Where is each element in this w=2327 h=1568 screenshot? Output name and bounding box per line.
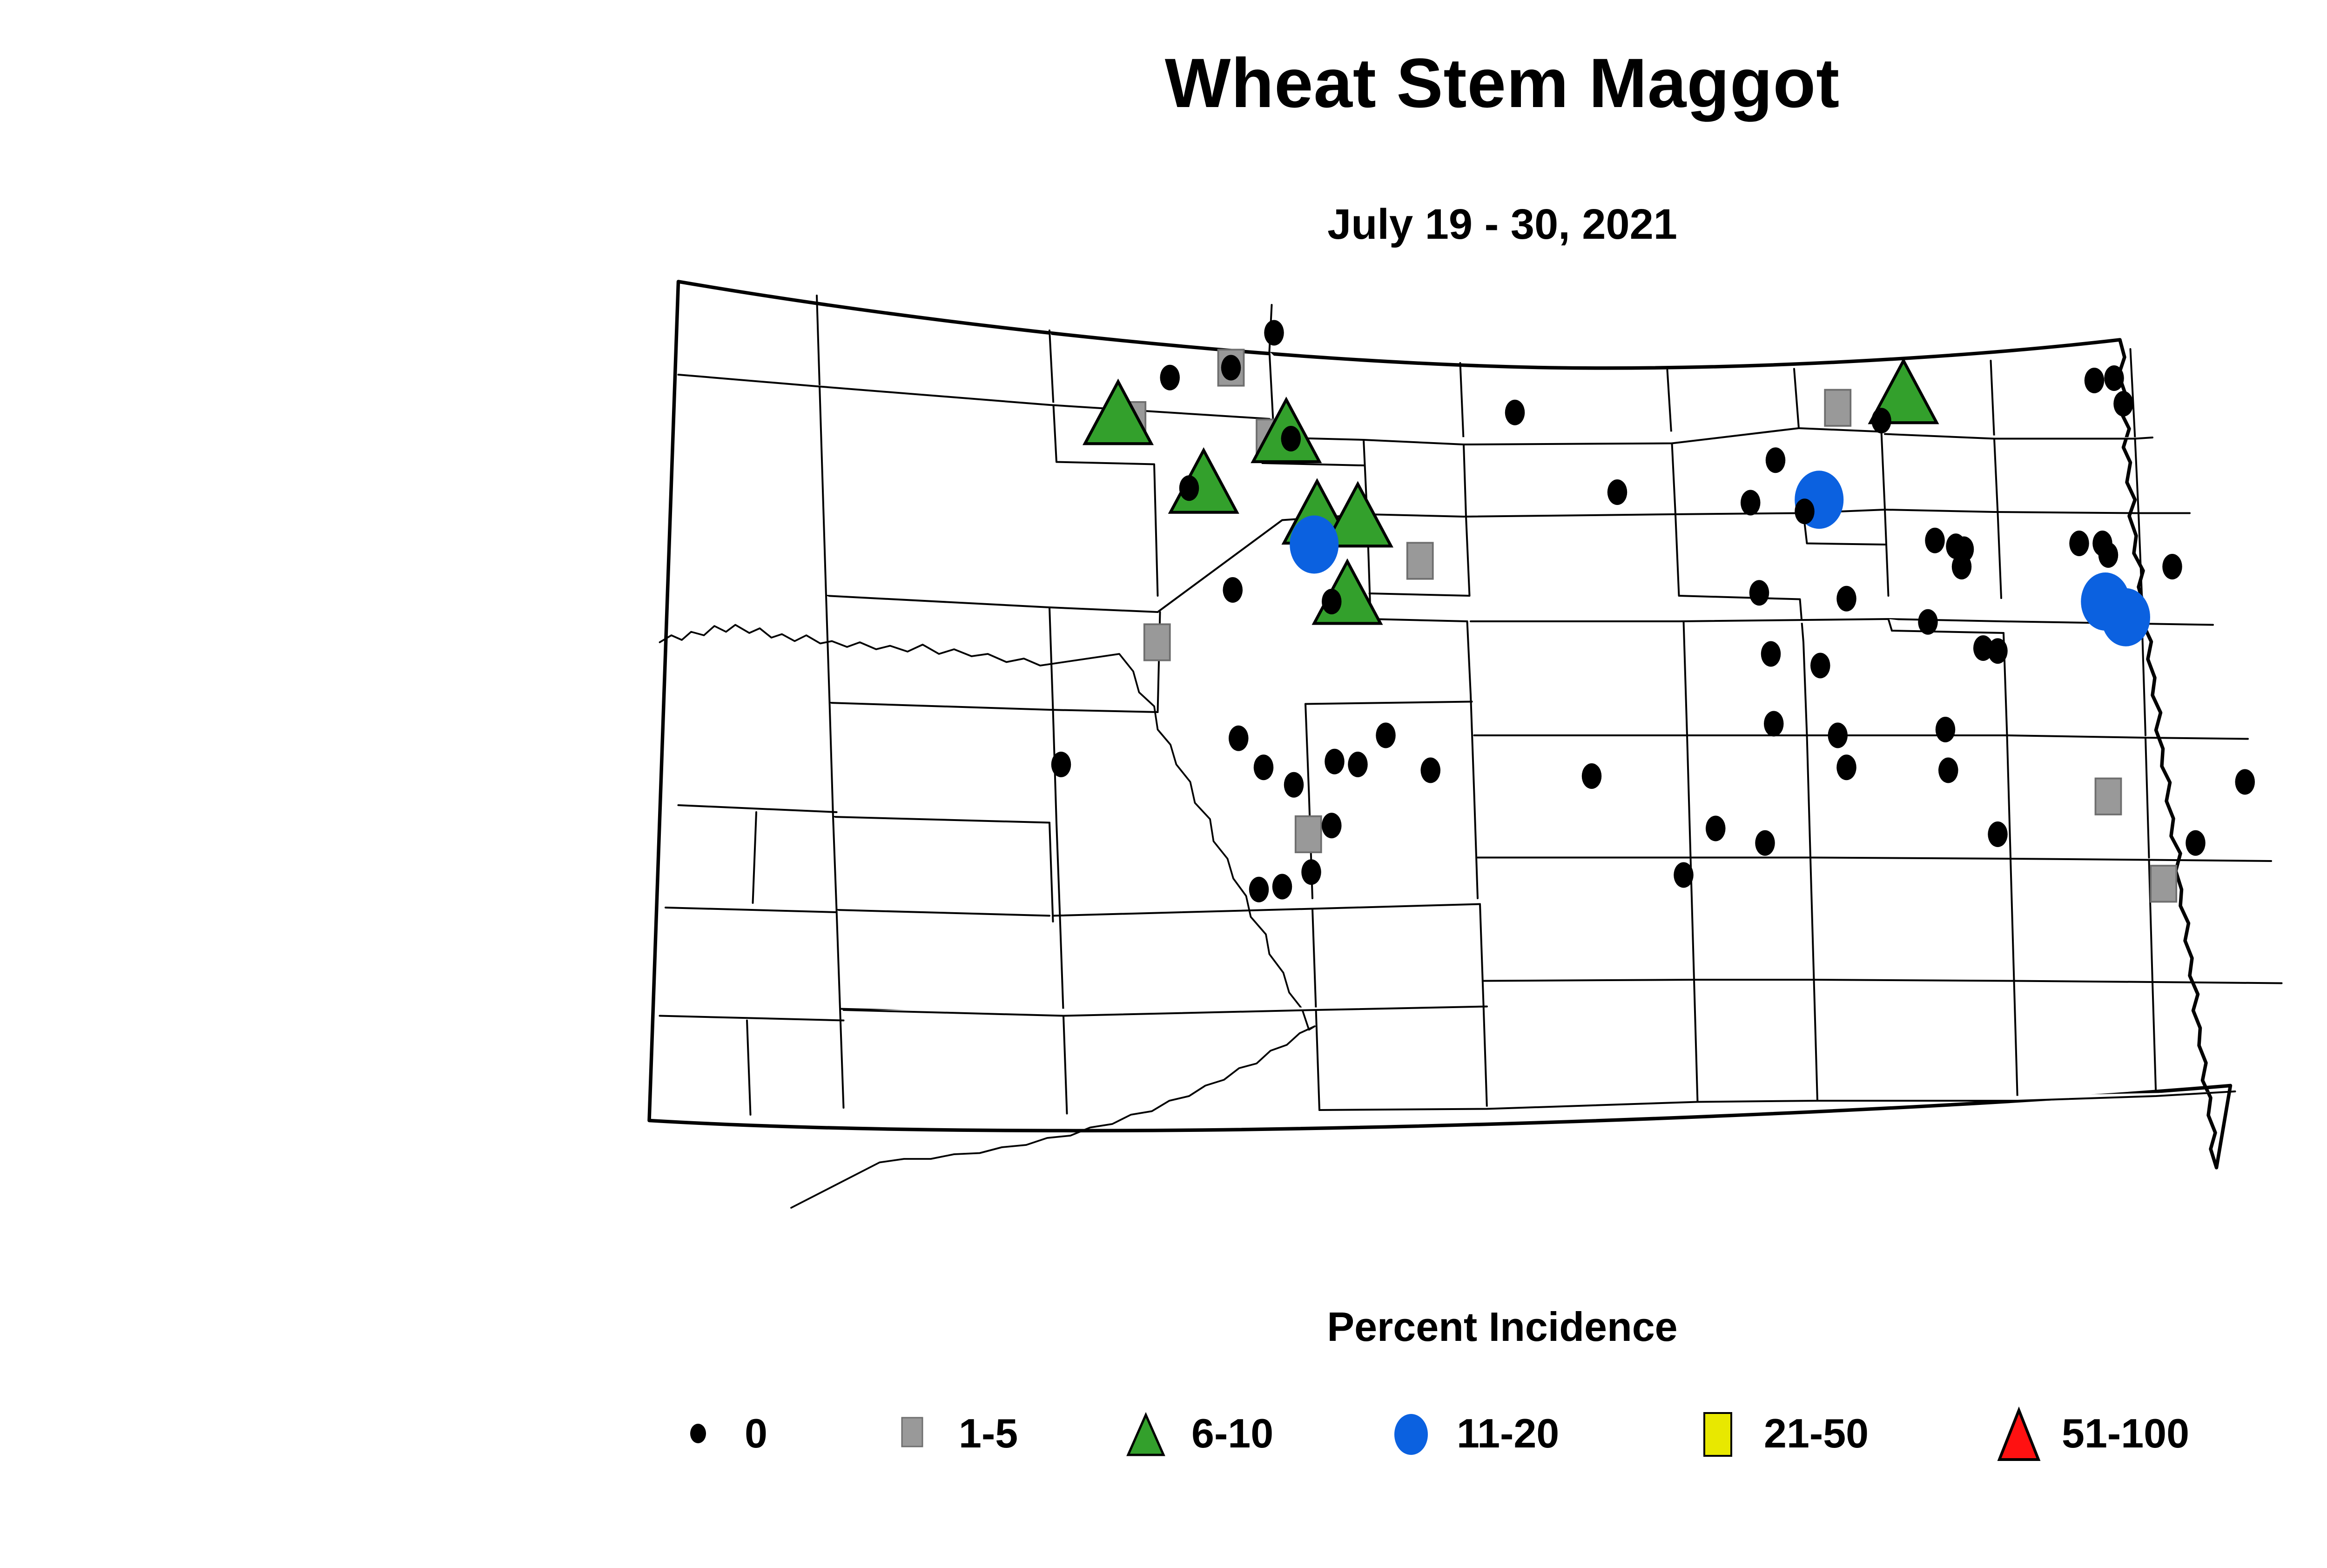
map-marker-0[interactable]	[1836, 586, 1856, 612]
page-title: Wheat Stem Maggot	[0, 47, 2327, 120]
north-dakota-county-map[interactable]	[642, 270, 2327, 1285]
map-container[interactable]	[642, 270, 2327, 1285]
legend-entry-4[interactable]: 21-50	[1689, 1392, 1869, 1475]
map-marker-0[interactable]	[1706, 816, 1726, 841]
map-marker-0[interactable]	[1828, 723, 1848, 748]
map-marker-0[interactable]	[1755, 830, 1775, 856]
map-marker-0[interactable]	[1322, 589, 1342, 614]
map-marker-0[interactable]	[2104, 365, 2124, 391]
map-marker-0[interactable]	[1795, 498, 1815, 524]
map-marker-0[interactable]	[1221, 355, 1241, 381]
map-marker-0[interactable]	[1264, 320, 1284, 346]
map-marker-0[interactable]	[2113, 391, 2133, 417]
legend-entry-0[interactable]: 0	[670, 1392, 767, 1475]
map-marker-0[interactable]	[1674, 862, 1694, 888]
map-marker-0[interactable]	[1836, 754, 1856, 780]
map-marker-0[interactable]	[2162, 554, 2182, 579]
map-marker-0[interactable]	[1918, 609, 1938, 635]
legend-entry-1[interactable]: 1-5	[884, 1392, 1018, 1475]
legend-label-2: 6-10	[1191, 1410, 1273, 1457]
map-marker-1-5[interactable]	[2096, 779, 2121, 815]
legend-label-5: 51-100	[2062, 1410, 2189, 1457]
map-marker-0[interactable]	[1051, 752, 1071, 777]
map-marker-0[interactable]	[1254, 754, 1274, 780]
legend-title: Percent Incidence	[0, 1303, 2327, 1351]
legend-label-0: 0	[745, 1410, 767, 1457]
map-marker-0[interactable]	[1348, 752, 1368, 777]
county-line	[2131, 349, 2135, 439]
map-marker-0[interactable]	[1223, 577, 1243, 603]
legend-entry-3[interactable]: 11-20	[1382, 1392, 1559, 1475]
map-marker-0[interactable]	[1749, 580, 1769, 606]
map-marker-0[interactable]	[1938, 758, 1958, 783]
map-marker-0[interactable]	[1766, 447, 1786, 473]
map-marker-0[interactable]	[1301, 859, 1321, 885]
legend: 0 1-5 6-10 11-20	[642, 1392, 2327, 1485]
legend-label-3: 11-20	[1457, 1410, 1559, 1457]
map-marker-0[interactable]	[1179, 475, 1199, 501]
map-marker-0[interactable]	[1322, 813, 1342, 838]
map-marker-0[interactable]	[2186, 830, 2206, 856]
map-marker-0[interactable]	[1741, 490, 1761, 516]
legend-marker-red-triangle-icon	[1987, 1406, 2043, 1461]
legend-marker-blue-circle-icon	[1382, 1406, 1438, 1461]
legend-marker-green-triangle-icon	[1117, 1406, 1173, 1461]
map-marker-11-20[interactable]	[2101, 588, 2150, 646]
map-marker-1-5[interactable]	[1144, 624, 1170, 660]
map-counties	[649, 282, 2282, 1208]
map-marker-0[interactable]	[1607, 479, 1628, 505]
map-marker-0[interactable]	[1505, 400, 1525, 425]
map-marker-0[interactable]	[1160, 365, 1180, 390]
page-subtitle: July 19 - 30, 2021	[0, 200, 2327, 249]
map-marker-1-5[interactable]	[1825, 390, 1850, 426]
map-marker-0[interactable]	[1925, 528, 1945, 553]
map-marker-1-5[interactable]	[1407, 543, 1433, 579]
legend-label-1: 1-5	[959, 1410, 1018, 1457]
legend-marker-yellow-square-icon	[1689, 1406, 1745, 1461]
map-marker-0[interactable]	[1988, 821, 2008, 847]
map-marker-0[interactable]	[1871, 408, 1891, 433]
map-marker-0[interactable]	[1582, 763, 1602, 789]
map-marker-1-5[interactable]	[2151, 866, 2176, 902]
legend-entry-5[interactable]: 51-100	[1987, 1392, 2189, 1475]
map-marker-0[interactable]	[2085, 368, 2105, 393]
map-marker-0[interactable]	[1249, 877, 1269, 902]
map-marker-0[interactable]	[1376, 723, 1396, 748]
map-marker-0[interactable]	[1421, 758, 1441, 783]
legend-marker-black-circle-icon	[670, 1406, 726, 1461]
legend-label-4: 21-50	[1764, 1410, 1869, 1457]
map-marker-0[interactable]	[1764, 711, 1784, 737]
legend-entry-2[interactable]: 6-10	[1117, 1392, 1273, 1475]
map-marker-0[interactable]	[1272, 874, 1292, 900]
map-marker-0[interactable]	[1988, 638, 2008, 664]
map-marker-0[interactable]	[1952, 554, 1972, 579]
map-marker-0[interactable]	[1761, 641, 1781, 667]
map-marker-0[interactable]	[1936, 717, 1956, 742]
map-marker-0[interactable]	[2098, 542, 2119, 568]
map-marker-0[interactable]	[1810, 653, 1830, 679]
figure-root: Wheat Stem Maggot July 19 - 30, 2021	[0, 0, 2327, 1568]
legend-marker-gray-square-icon	[884, 1406, 940, 1461]
map-marker-0[interactable]	[1284, 772, 1304, 798]
map-marker-0[interactable]	[1229, 726, 1249, 751]
map-marker-11-20[interactable]	[1290, 516, 1338, 574]
map-marker-0[interactable]	[1281, 426, 1301, 451]
map-marker-0[interactable]	[2069, 531, 2089, 556]
map-marker-1-5[interactable]	[1296, 816, 1321, 853]
map-marker-0[interactable]	[2235, 769, 2255, 795]
map-marker-0[interactable]	[1325, 749, 1345, 774]
